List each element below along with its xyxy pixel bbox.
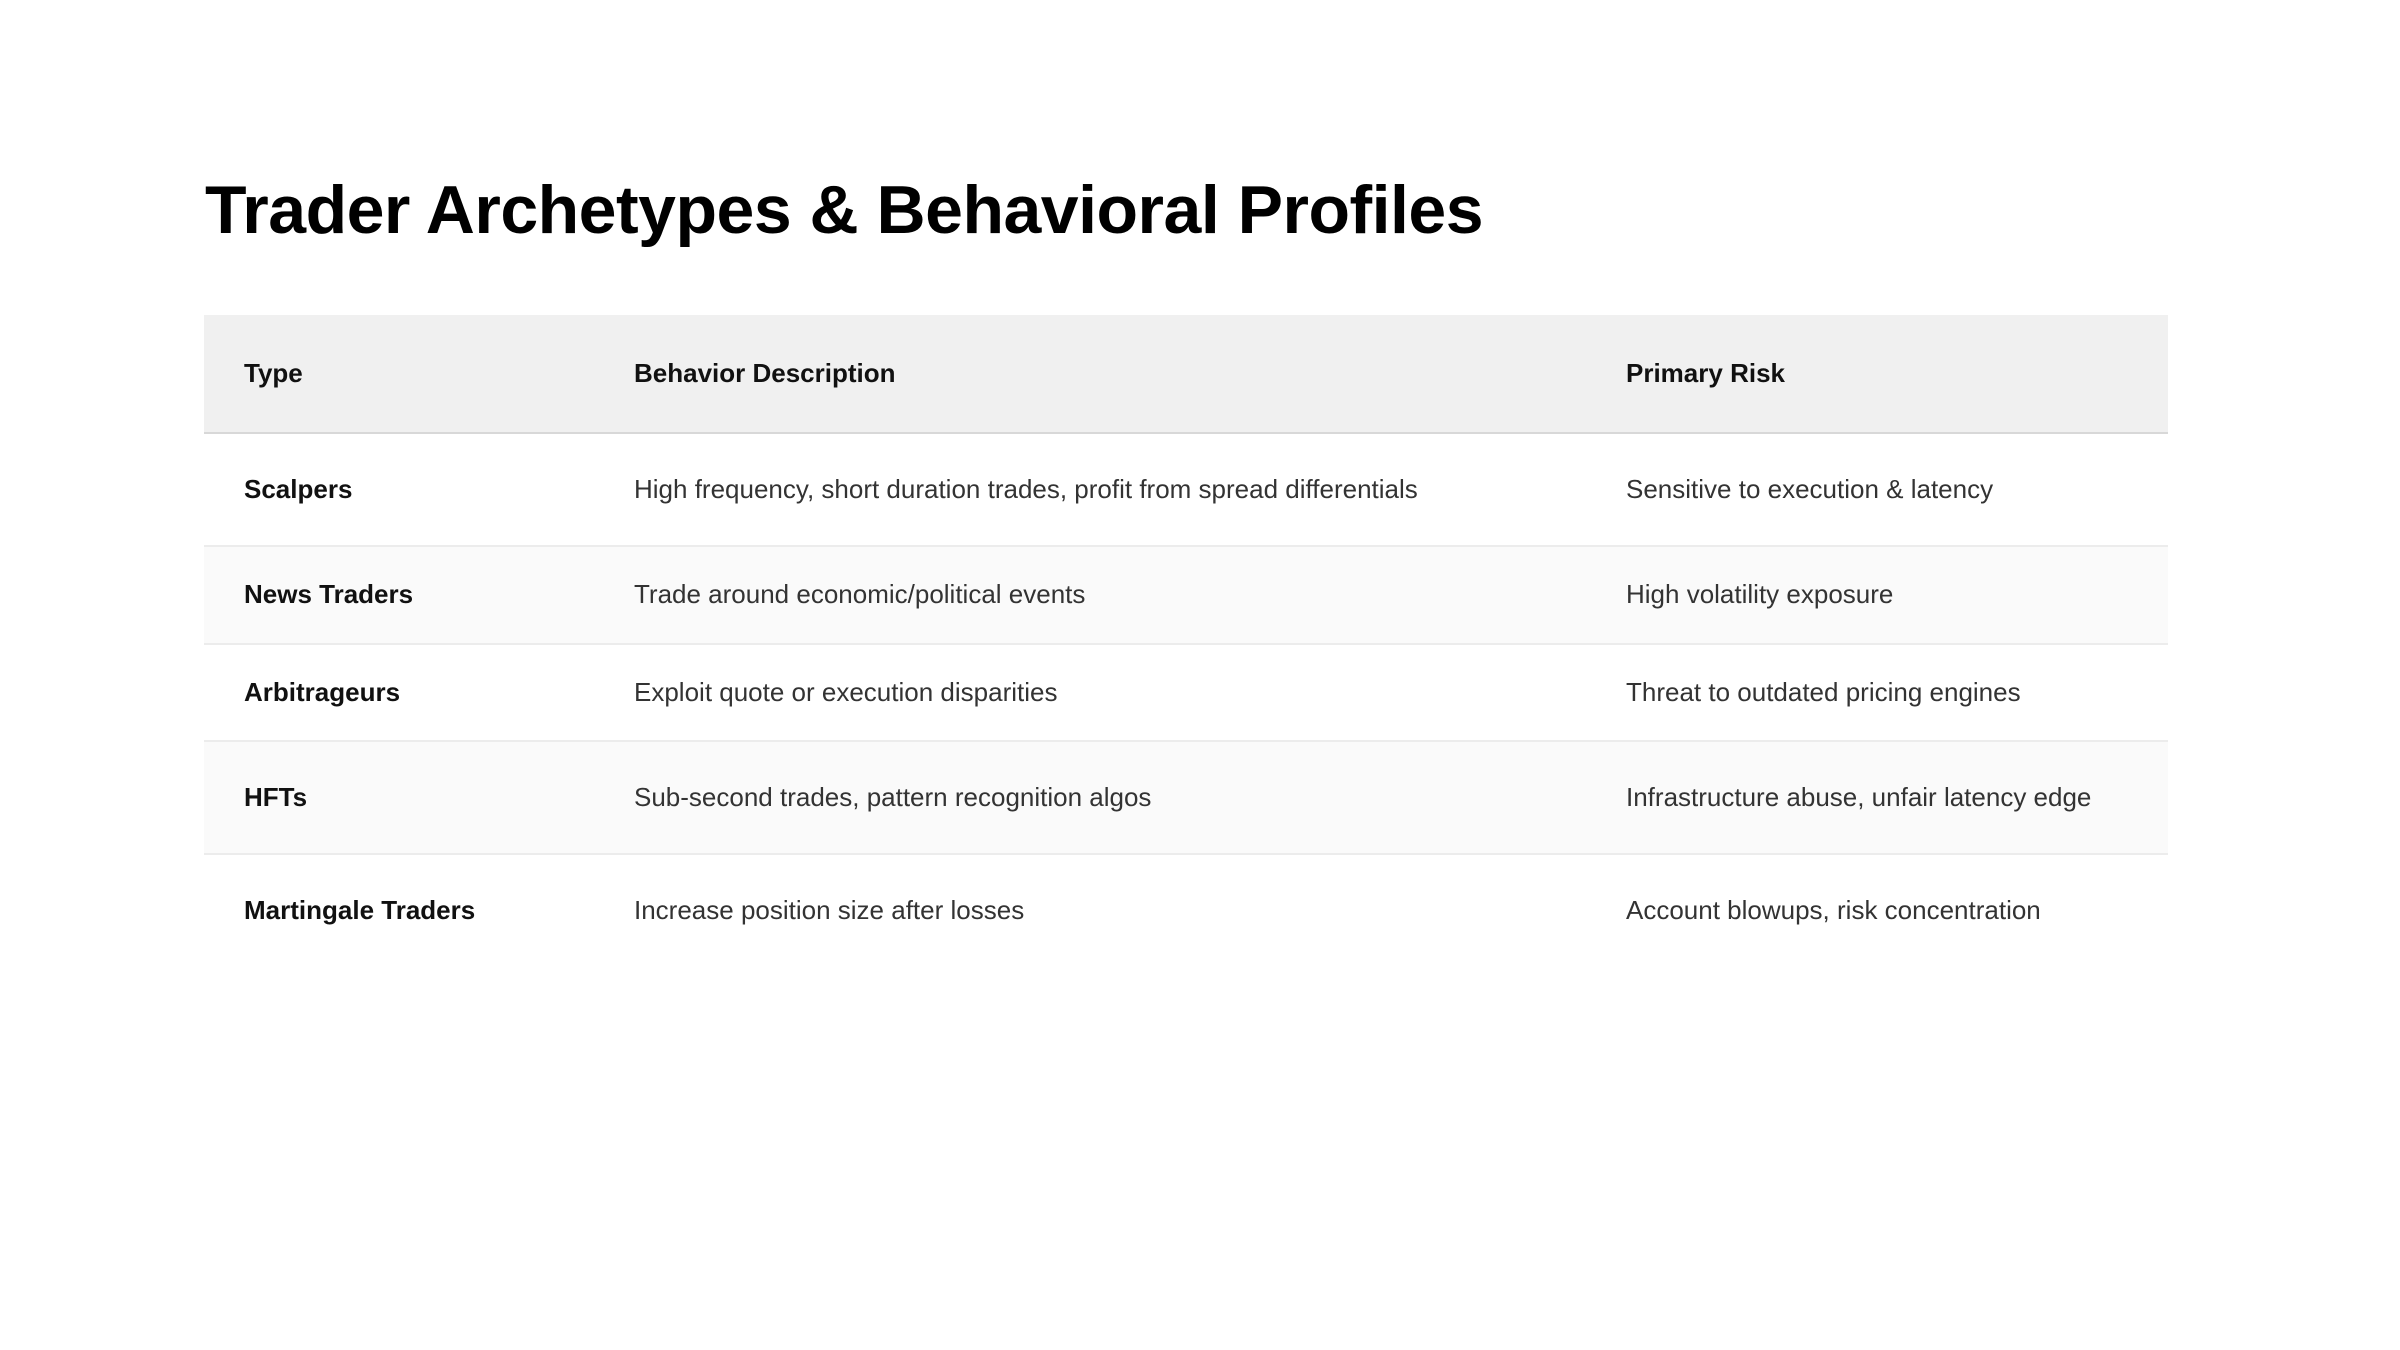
cell-behavior-description: Exploit quote or execution disparities xyxy=(598,644,1588,741)
cell-primary-risk: Infrastructure abuse, unfair latency edg… xyxy=(1588,741,2168,854)
table-head: Type Behavior Description Primary Risk xyxy=(204,315,2168,433)
cell-primary-risk: High volatility exposure xyxy=(1588,546,2168,643)
page-title: Trader Archetypes & Behavioral Profiles xyxy=(205,174,1483,247)
cell-primary-risk: Threat to outdated pricing engines xyxy=(1588,644,2168,741)
column-header-behavior-description: Behavior Description xyxy=(598,315,1588,433)
table-body: Scalpers High frequency, short duration … xyxy=(204,433,2168,967)
cell-type: News Traders xyxy=(204,546,598,643)
table-row: Martingale Traders Increase position siz… xyxy=(204,854,2168,966)
cell-type: Scalpers xyxy=(204,433,598,546)
archetype-table-container: Type Behavior Description Primary Risk S… xyxy=(204,315,2168,967)
column-header-type: Type xyxy=(204,315,598,433)
table-row: Arbitrageurs Exploit quote or execution … xyxy=(204,644,2168,741)
column-header-primary-risk: Primary Risk xyxy=(1588,315,2168,433)
cell-behavior-description: Trade around economic/political events xyxy=(598,546,1588,643)
archetype-table: Type Behavior Description Primary Risk S… xyxy=(204,315,2168,967)
cell-behavior-description: Sub-second trades, pattern recognition a… xyxy=(598,741,1588,854)
cell-type: Martingale Traders xyxy=(204,854,598,966)
cell-primary-risk: Account blowups, risk concentration xyxy=(1588,854,2168,966)
cell-behavior-description: Increase position size after losses xyxy=(598,854,1588,966)
cell-behavior-description: High frequency, short duration trades, p… xyxy=(598,433,1588,546)
table-row: HFTs Sub-second trades, pattern recognit… xyxy=(204,741,2168,854)
cell-type: HFTs xyxy=(204,741,598,854)
table-row: Scalpers High frequency, short duration … xyxy=(204,433,2168,546)
table-header-row: Type Behavior Description Primary Risk xyxy=(204,315,2168,433)
page-root: Trader Archetypes & Behavioral Profiles … xyxy=(0,0,2400,1350)
cell-type: Arbitrageurs xyxy=(204,644,598,741)
table-row: News Traders Trade around economic/polit… xyxy=(204,546,2168,643)
cell-primary-risk: Sensitive to execution & latency xyxy=(1588,433,2168,546)
